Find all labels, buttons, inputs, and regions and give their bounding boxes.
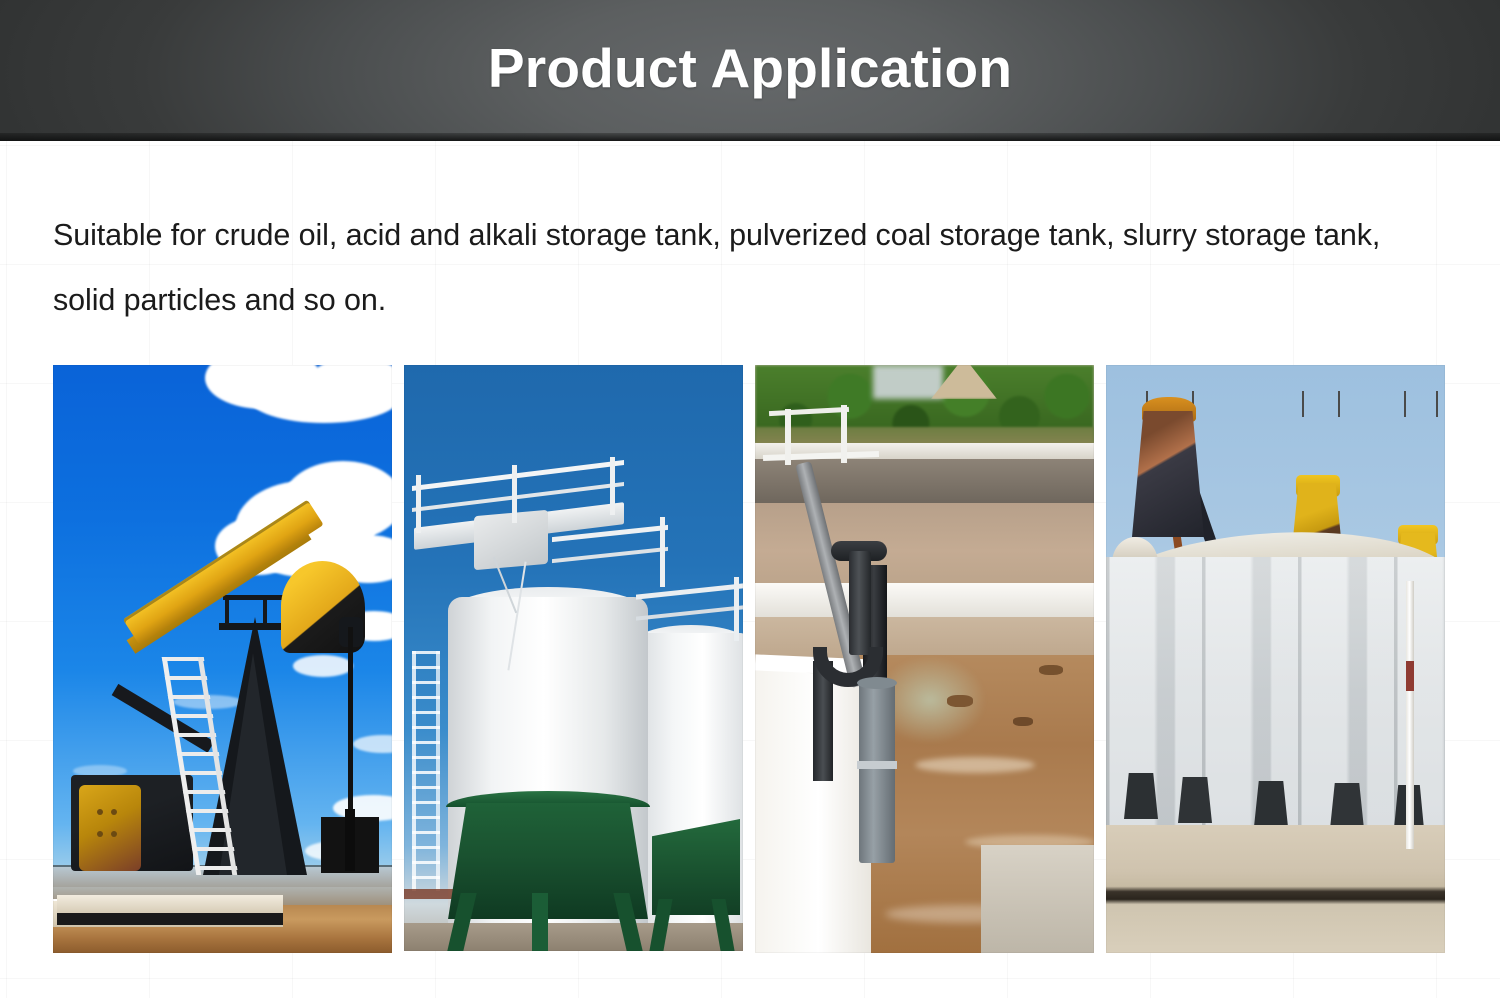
antenna — [1338, 391, 1340, 417]
silo-discharge-opening — [1254, 781, 1288, 827]
product-application-gallery — [53, 365, 1447, 953]
ladder-rail — [412, 651, 416, 891]
product-application-slide: Product Application Suitable for crude o… — [0, 0, 1500, 998]
floating-debris — [947, 695, 973, 707]
tank-railing — [636, 583, 743, 599]
silo-discharge-opening — [1178, 777, 1212, 823]
concrete-block — [981, 845, 1094, 953]
discharge-standpipe — [859, 683, 895, 863]
pole-marker — [1406, 661, 1414, 691]
silo-discharge-opening — [1124, 773, 1158, 819]
antenna — [1302, 391, 1304, 417]
counterweight-bolts — [97, 809, 103, 815]
railing-post — [416, 475, 421, 533]
vertical-pipe — [849, 551, 871, 655]
railing-post — [512, 465, 517, 523]
silo-yard-ground — [1106, 825, 1445, 953]
page-header: Product Application — [0, 0, 1500, 141]
platform-railing-post — [225, 595, 229, 625]
railing-post — [734, 577, 739, 641]
antenna — [1436, 391, 1438, 417]
rust-loading-tower — [1132, 411, 1204, 537]
tank-railing — [636, 605, 743, 620]
description-text: Suitable for crude oil, acid and alkali … — [53, 203, 1423, 333]
bridle-cable — [348, 627, 353, 827]
railing-post — [610, 457, 615, 515]
antenna — [1404, 391, 1406, 417]
sky-gap — [873, 365, 943, 399]
light-pole — [1406, 581, 1414, 849]
concrete-silo-photo[interactable] — [1106, 365, 1445, 953]
handrail-post — [785, 409, 791, 465]
support-leg — [532, 893, 548, 951]
handrail-post — [841, 405, 847, 463]
polished-rod — [345, 809, 355, 871]
slurry-foam — [915, 757, 1035, 773]
standpipe-cap — [857, 677, 897, 689]
silo-discharge-opening — [1330, 783, 1364, 829]
platform-railing-post — [263, 595, 267, 625]
page-title: Product Application — [0, 28, 1500, 108]
counterweight — [79, 785, 141, 871]
floating-debris — [1039, 665, 1063, 675]
slurry-discharge-photo[interactable] — [755, 365, 1094, 953]
standpipe-clamp — [857, 761, 897, 769]
tank-top-equipment — [474, 510, 548, 570]
white-storage-tank-photo[interactable] — [404, 365, 743, 951]
pumpjack-base — [57, 895, 283, 915]
tank-railing — [552, 547, 668, 563]
cloud — [353, 735, 392, 753]
ladder-rail — [436, 651, 440, 891]
oil-pumpjack-photo[interactable] — [53, 365, 392, 953]
pumpjack-base-shadow — [57, 913, 283, 925]
mid-wall — [755, 583, 1094, 617]
far-basin-floor — [755, 503, 1094, 583]
floating-debris — [1013, 717, 1033, 726]
railing-post — [660, 517, 665, 587]
